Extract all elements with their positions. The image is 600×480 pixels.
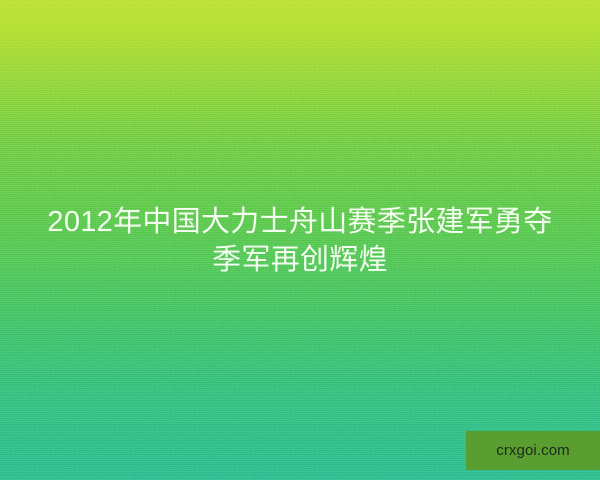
title-line-2: 季军再创辉煌 <box>26 241 574 279</box>
title-block: 2012年中国大力士舟山赛季张建军勇夺 季军再创辉煌 <box>0 203 600 279</box>
watermark-badge: crxgoi.com <box>466 431 600 470</box>
image-canvas: 2012年中国大力士舟山赛季张建军勇夺 季军再创辉煌 crxgoi.com <box>0 0 600 480</box>
watermark-label: crxgoi.com <box>496 443 570 458</box>
title-line-1: 2012年中国大力士舟山赛季张建军勇夺 <box>26 203 574 241</box>
